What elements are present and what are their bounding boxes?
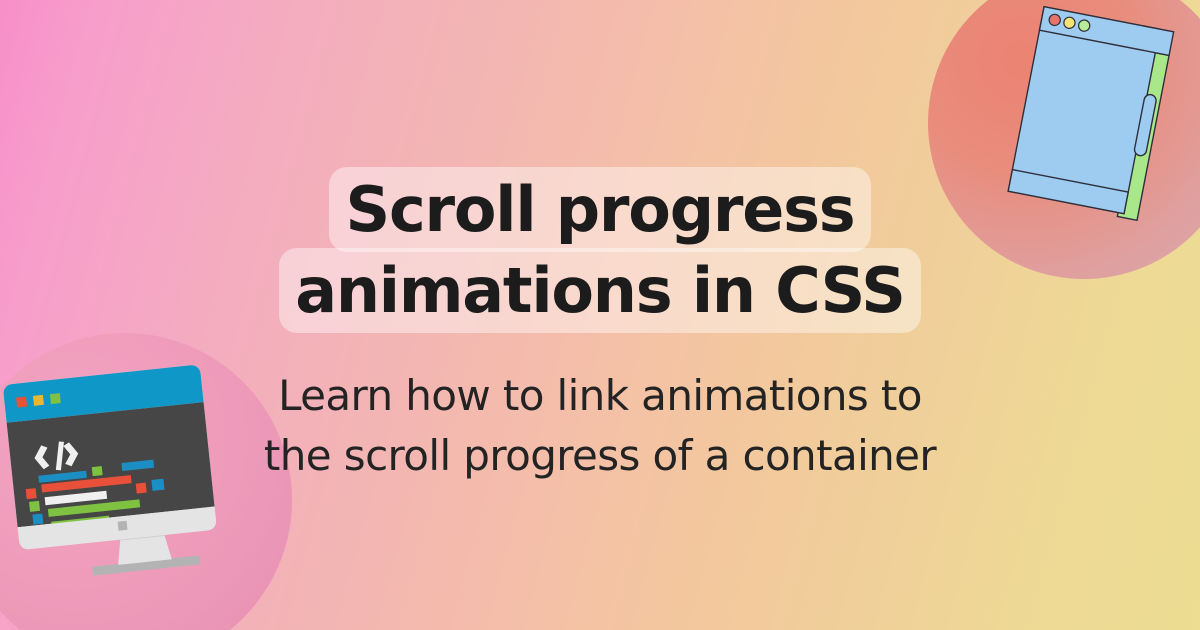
page-subtitle: Learn how to link animations tothe scrol… xyxy=(185,366,1015,485)
page-title: Scroll progressanimations in CSS xyxy=(250,169,950,333)
page-title-line-2: animations in CSS xyxy=(279,248,921,333)
page-subtitle-line-1: Learn how to link animations to xyxy=(278,371,922,420)
page-subtitle-line-2: the scroll progress of a container xyxy=(264,431,936,480)
banner-text-content: Scroll progressanimations in CSS Learn h… xyxy=(0,0,1200,630)
banner-canvas: Scroll progressanimations in CSS Learn h… xyxy=(0,0,1200,630)
page-title-line-1: Scroll progress xyxy=(329,167,870,252)
